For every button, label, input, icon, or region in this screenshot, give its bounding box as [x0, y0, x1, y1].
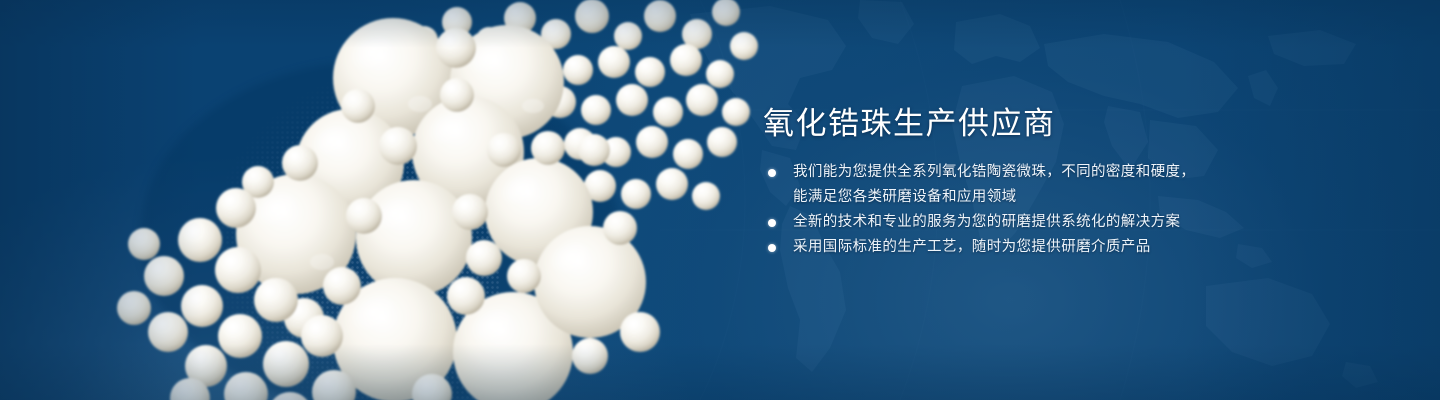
hero-banner: 氧化锆珠生产供应商 我们能为您提供全系列氧化锆陶瓷微珠，不同的密度和硬度， 能满… [0, 0, 1440, 400]
zirconia-beads-photo [0, 0, 760, 400]
bullet-text-line2: 能满足您各类研磨设备和应用领域 [793, 185, 1363, 210]
feature-bullet-list: 我们能为您提供全系列氧化锆陶瓷微珠，不同的密度和硬度， 能满足您各类研磨设备和应… [763, 160, 1363, 260]
bullet-dot-icon [768, 219, 776, 227]
list-item: 我们能为您提供全系列氧化锆陶瓷微珠，不同的密度和硬度， 能满足您各类研磨设备和应… [763, 160, 1363, 210]
bullet-text-line1: 采用国际标准的生产工艺，随时为您提供研磨介质产品 [793, 239, 1151, 255]
bullet-dot-icon [768, 244, 776, 252]
bullet-text-line1: 我们能为您提供全系列氧化锆陶瓷微珠，不同的密度和硬度， [793, 164, 1195, 180]
list-item: 采用国际标准的生产工艺，随时为您提供研磨介质产品 [763, 235, 1363, 260]
bullet-dot-icon [768, 169, 776, 177]
banner-copy: 氧化锆珠生产供应商 我们能为您提供全系列氧化锆陶瓷微珠，不同的密度和硬度， 能满… [763, 104, 1363, 260]
page-title: 氧化锆珠生产供应商 [763, 104, 1363, 144]
list-item: 全新的技术和专业的服务为您的研磨提供系统化的解决方案 [763, 210, 1363, 235]
bullet-text-line1: 全新的技术和专业的服务为您的研磨提供系统化的解决方案 [793, 214, 1180, 230]
